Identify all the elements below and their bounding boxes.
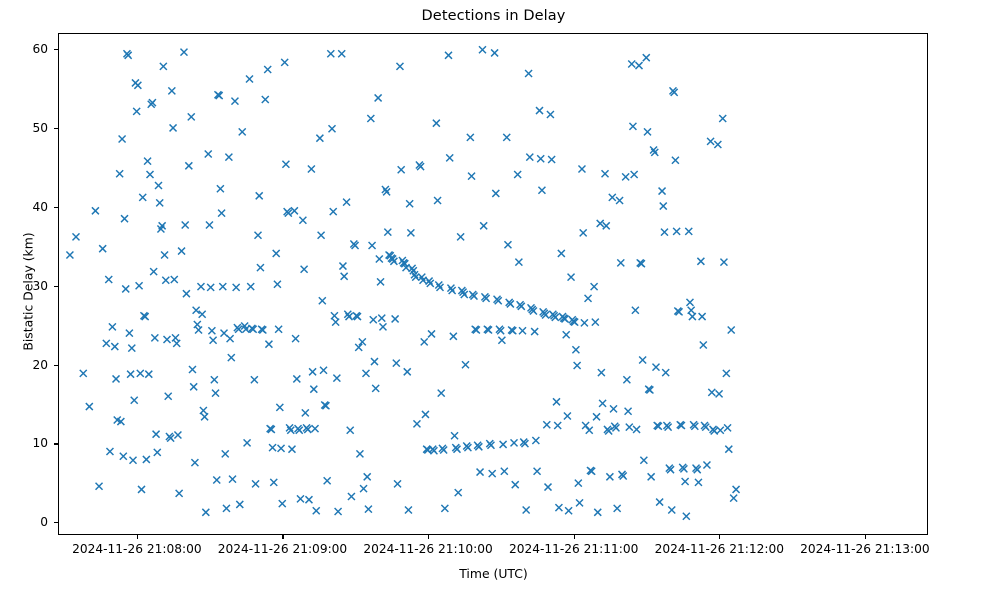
y-tick-label: 0: [40, 515, 48, 529]
x-tick-mark: [282, 535, 283, 539]
y-tick-mark: [54, 128, 58, 129]
x-tick-mark: [137, 535, 138, 539]
y-tick-mark: [54, 49, 58, 50]
x-tick-label: 2024-11-26 21:12:00: [655, 542, 784, 556]
x-tick-label: 2024-11-26 21:11:00: [509, 542, 638, 556]
x-tick-label: 2024-11-26 21:13:00: [800, 542, 929, 556]
x-tick-label: 2024-11-26 21:08:00: [72, 542, 201, 556]
y-tick-mark: [54, 365, 58, 366]
plot-area: [58, 33, 928, 535]
figure-canvas: Detections in Delay 2024-11-26 21:08:002…: [0, 0, 987, 590]
x-tick-label: 2024-11-26 21:09:00: [218, 542, 347, 556]
x-axis-label: Time (UTC): [0, 566, 987, 581]
y-axis-label: Bistatic Delay (km): [21, 142, 36, 442]
y-tick-label: 50: [32, 121, 48, 135]
y-tick-mark: [54, 207, 58, 208]
chart-title: Detections in Delay: [0, 8, 987, 24]
y-tick-mark: [54, 522, 58, 523]
y-tick-label: 60: [32, 42, 48, 56]
x-tick-mark: [865, 535, 866, 539]
x-tick-mark: [719, 535, 720, 539]
x-tick-mark: [428, 535, 429, 539]
y-tick-mark: [54, 443, 58, 444]
scatter-series-detections: [59, 34, 928, 535]
x-tick-mark: [574, 535, 575, 539]
y-tick-mark: [54, 286, 58, 287]
x-tick-label: 2024-11-26 21:10:00: [363, 542, 492, 556]
